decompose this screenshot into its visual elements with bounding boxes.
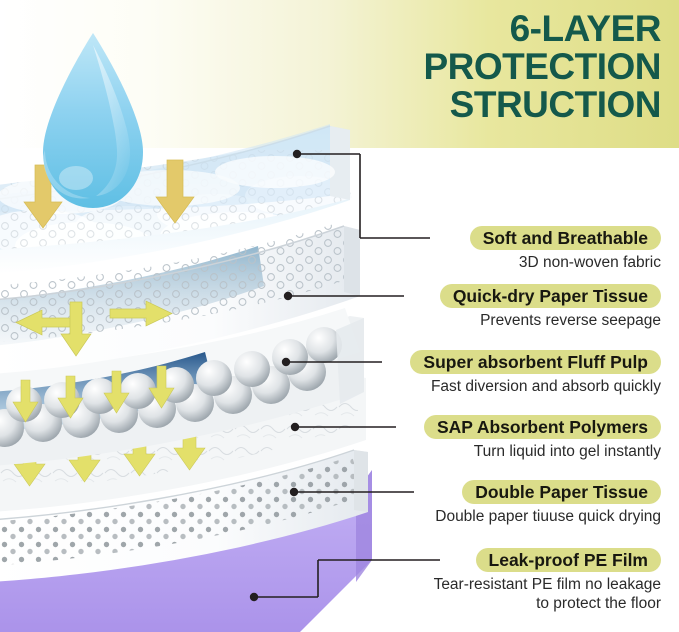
leader-leak-proof-pe-film [250, 560, 440, 601]
leader-quick-dry-paper-tissue [284, 292, 404, 300]
callout-subtitle: 3D non-woven fabric [470, 253, 661, 272]
callout-title: Super absorbent Fluff Pulp [410, 350, 661, 374]
callout-title: Leak-proof PE Film [476, 548, 661, 572]
callout-sap-absorbent-polymers: SAP Absorbent Polymers Turn liquid into … [424, 415, 661, 461]
callout-super-absorbent-fluff-pulp: Super absorbent Fluff Pulp Fast diversio… [410, 350, 661, 396]
leader-double-paper-tissue [290, 488, 414, 496]
callout-subtitle: Prevents reverse seepage [440, 311, 661, 330]
callout-double-paper-tissue: Double Paper Tissue Double paper tiuuse … [435, 480, 661, 526]
callout-subtitle: Fast diversion and absorb quickly [410, 377, 661, 396]
callout-title: Quick-dry Paper Tissue [440, 284, 661, 308]
infographic-canvas: 6-LAYER PROTECTION STRUCTION [0, 0, 679, 632]
callout-title: Soft and Breathable [470, 226, 661, 250]
callout-subtitle-line-1: Tear-resistant PE film no leakage [434, 575, 661, 594]
callout-title: Double Paper Tissue [462, 480, 661, 504]
leader-sap-absorbent-polymers [291, 423, 396, 431]
callout-subtitle: Turn liquid into gel instantly [424, 442, 661, 461]
callout-subtitle-line-2: to protect the floor [434, 594, 661, 613]
callout-title: SAP Absorbent Polymers [424, 415, 661, 439]
leader-soft-and-breathable [293, 150, 430, 238]
callout-quick-dry-paper-tissue: Quick-dry Paper Tissue Prevents reverse … [440, 284, 661, 330]
callout-leak-proof-pe-film: Leak-proof PE Film Tear-resistant PE fil… [434, 548, 661, 613]
leader-super-absorbent-fluff-pulp [282, 358, 382, 366]
callout-subtitle: Double paper tiuuse quick drying [435, 507, 661, 526]
callout-soft-and-breathable: Soft and Breathable 3D non-woven fabric [470, 226, 661, 272]
